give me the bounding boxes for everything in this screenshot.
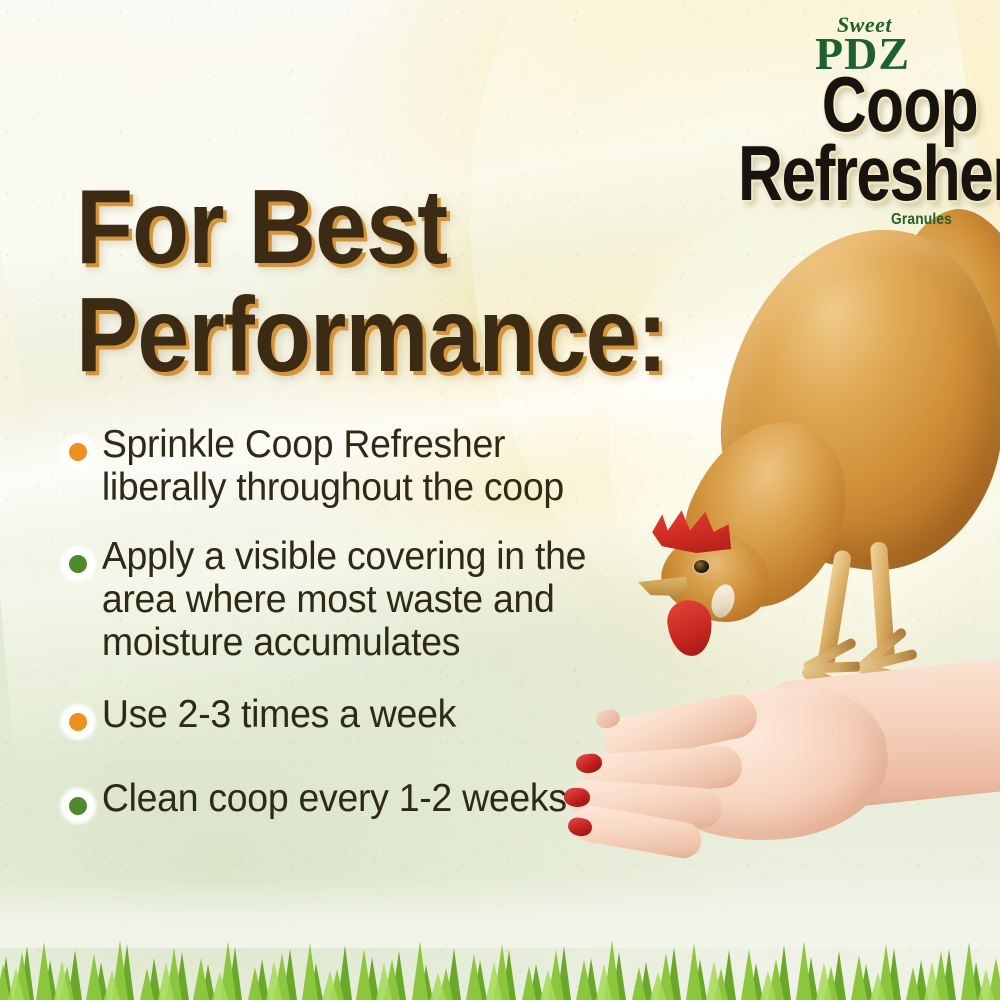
chicken-eye bbox=[694, 560, 709, 573]
instruction-list: Sprinkle Coop Refresher liberally throug… bbox=[58, 424, 658, 852]
list-item-text: Apply a visible covering in the area whe… bbox=[98, 536, 586, 665]
bullet-dot-icon bbox=[58, 544, 98, 584]
list-item: Clean coop every 1-2 weeks bbox=[58, 778, 658, 826]
bullet-dot-icon bbox=[58, 702, 98, 742]
list-item-text: Clean coop every 1-2 weeks bbox=[98, 778, 567, 821]
headline-line-1: For Best bbox=[76, 176, 667, 280]
list-item: Use 2-3 times a week bbox=[58, 694, 658, 742]
bullet-dot-icon bbox=[58, 432, 98, 472]
grass-border-image bbox=[0, 938, 1000, 1000]
product-form-label: Granules bbox=[716, 211, 952, 229]
product-name-line-1: Coop bbox=[738, 71, 978, 138]
bullet-dot-icon bbox=[58, 786, 98, 826]
product-name-line-2: Refresher bbox=[738, 140, 978, 207]
headline-line-2: Performance: bbox=[76, 284, 667, 388]
poster-canvas: Sweet PDZ Coop Refresher Granules For Be… bbox=[0, 0, 1000, 1000]
list-item-text: Use 2-3 times a week bbox=[98, 694, 456, 737]
list-item: Sprinkle Coop Refresher liberally throug… bbox=[58, 424, 658, 510]
list-item: Apply a visible covering in the area whe… bbox=[58, 536, 658, 665]
list-item-text: Sprinkle Coop Refresher liberally throug… bbox=[98, 424, 564, 510]
page-title: For Best Performance: bbox=[76, 176, 747, 388]
